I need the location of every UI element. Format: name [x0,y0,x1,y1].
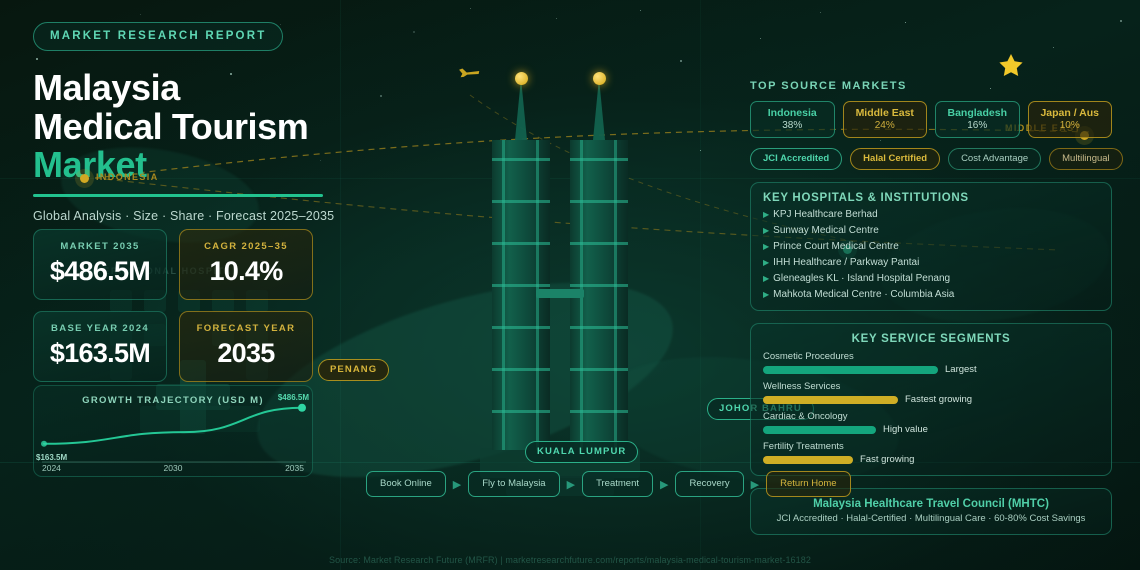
hospital-name: IHH Healthcare / Parkway Pantai [773,257,919,268]
crescent-moon-star-icon [994,18,1058,82]
journey-step-return-home[interactable]: Return Home [766,471,851,497]
stat-value: $163.5M [44,338,156,369]
map-dot-indonesia [80,174,89,183]
stat-label: FORECAST YEAR [190,323,302,334]
mhtc-title: Malaysia Healthcare Travel Council (MHTC… [763,498,1099,510]
hospital-name: Prince Court Medical Centre [773,241,899,252]
journey-step-treatment[interactable]: Treatment [582,471,653,497]
infographic-canvas: INTERNATIONAL HOSPITAL [0,0,1140,570]
chip-halal-certified[interactable]: Halal Certified [850,148,940,170]
stat-card-cagr: CAGR 2025–35 10.4% [179,229,313,300]
source-market-name: Japan / Aus [1031,107,1110,119]
star [680,60,682,62]
page-subtitle: Global Analysis · Size · Share · Forecas… [33,209,363,223]
map-region-label-indonesia: INDONESIA [96,172,159,182]
star [1120,20,1122,22]
title-underline [33,194,323,197]
stat-value: $486.5M [44,256,156,287]
bullet-triangle-icon: ▶ [763,210,769,219]
bullet-triangle-icon: ▶ [763,242,769,251]
segment-tag: High value [883,424,928,435]
star [760,38,761,39]
segment-bar [763,396,898,404]
tower-spire-right [593,78,605,140]
x-tick: 2035 [285,463,304,473]
source-market-share: 24% [846,120,925,131]
hospital-item: ▶KPJ Healthcare Berhad [763,209,1099,220]
report-badge: MARKET RESEARCH REPORT [33,22,283,51]
segment-bar [763,456,853,464]
source-market-name: Bangladesh [938,107,1017,119]
title-line-2: Medical Tourism [33,106,308,147]
segment-label: Cardiac & Oncology [763,411,1099,422]
segment-label: Fertility Treatments [763,441,1099,452]
mhtc-subtitle: JCI Accredited · Halal-Certified · Multi… [763,513,1099,524]
sky-bridge [536,289,584,298]
hospital-name: Mahkota Medical Centre · Columbia Asia [773,289,954,300]
spire-light-left [515,72,528,85]
star [470,8,471,9]
segment-row-fertility: Fertility Treatments Fast growing [763,441,1099,465]
star [140,14,141,15]
page-title: Malaysia Medical Tourism Market [33,69,363,185]
arrow-right-icon: ▶ [567,478,575,491]
stat-value: 10.4% [190,256,302,287]
source-market-japan-aus[interactable]: Japan / Aus 10% [1028,101,1113,138]
segment-bar [763,366,938,374]
bullet-triangle-icon: ▶ [763,226,769,235]
key-hospitals-title: KEY HOSPITALS & INSTITUTIONS [763,192,1099,204]
bullet-triangle-icon: ▶ [763,290,769,299]
bullet-triangle-icon: ▶ [763,258,769,267]
source-market-middle-east[interactable]: Middle East 24% [843,101,928,138]
segment-bar [763,426,876,434]
source-market-name: Indonesia [753,107,832,119]
chip-cost-advantage[interactable]: Cost Advantage [948,148,1041,170]
hospital-item: ▶Sunway Medical Centre [763,225,1099,236]
advantage-chips: JCI Accredited Halal Certified Cost Adva… [750,148,1112,170]
source-market-share: 10% [1031,120,1110,131]
star [380,95,382,97]
segment-tag: Largest [945,364,977,375]
segment-tag: Fastest growing [905,394,972,405]
star [556,18,557,19]
spire-light-right [593,72,606,85]
star [905,22,906,23]
segment-label: Wellness Services [763,381,1099,392]
stat-value: 2035 [190,338,302,369]
chart-end-label: $486.5M [278,393,309,402]
growth-trajectory-chart: GROWTH TRAJECTORY (USD M) $163.5M $486.5… [33,385,313,477]
hospital-name: KPJ Healthcare Berhad [773,209,878,220]
star [640,10,641,11]
hospital-name: Gleneagles KL · Island Hospital Penang [773,273,950,284]
segment-row-cosmetic: Cosmetic Procedures Largest [763,351,1099,375]
hospital-item: ▶IHH Healthcare / Parkway Pantai [763,257,1099,268]
segment-row-wellness: Wellness Services Fastest growing [763,381,1099,405]
service-segments-title: KEY SERVICE SEGMENTS [763,333,1099,345]
journey-step-book-online[interactable]: Book Online [366,471,446,497]
stat-card-base-year: BASE YEAR 2024 $163.5M [33,311,167,382]
stat-card-forecast-year: FORECAST YEAR 2035 [179,311,313,382]
segment-row-cardiac: Cardiac & Oncology High value [763,411,1099,435]
chart-x-tick-labels: 2024 2030 2035 [42,463,304,473]
x-tick: 2030 [164,463,183,473]
hospital-item: ▶Gleneagles KL · Island Hospital Penang [763,273,1099,284]
source-footer: Source: Market Research Future (MRFR) | … [0,555,1140,565]
source-market-indonesia[interactable]: Indonesia 38% [750,101,835,138]
key-service-segments-panel: KEY SERVICE SEGMENTS Cosmetic Procedures… [750,323,1112,476]
key-stats-grid: MARKET 2035 $486.5M CAGR 2025–35 10.4% B… [33,229,313,393]
title-line-1: Malaysia [33,67,180,108]
airplane-icon [456,64,482,88]
stat-card-market-2035: MARKET 2035 $486.5M [33,229,167,300]
stat-label: BASE YEAR 2024 [44,323,156,334]
stat-label: MARKET 2035 [44,241,156,252]
hospital-item: ▶Prince Court Medical Centre [763,241,1099,252]
source-markets-title: TOP SOURCE MARKETS [750,80,1112,92]
arrow-right-icon: ▶ [751,478,759,491]
right-panel: TOP SOURCE MARKETS Indonesia 38% Middle … [750,80,1112,535]
map-pill-kuala-lumpur[interactable]: KUALA LUMPUR [525,441,638,463]
arrow-right-icon: ▶ [660,478,668,491]
source-market-name: Middle East [846,107,925,119]
map-pill-penang[interactable]: PENANG [318,359,389,381]
segment-label: Cosmetic Procedures [763,351,1099,362]
source-market-share: 16% [938,120,1017,131]
journey-step-recovery[interactable]: Recovery [675,471,743,497]
key-hospitals-panel: KEY HOSPITALS & INSTITUTIONS ▶KPJ Health… [750,182,1112,311]
hospital-item: ▶Mahkota Medical Centre · Columbia Asia [763,289,1099,300]
chip-multilingual[interactable]: Multilingual [1049,148,1123,170]
stat-label: CAGR 2025–35 [190,241,302,252]
bullet-triangle-icon: ▶ [763,274,769,283]
chip-jci-accredited[interactable]: JCI Accredited [750,148,842,170]
journey-step-fly-to-malaysia[interactable]: Fly to Malaysia [468,471,559,497]
star [820,12,821,13]
star [413,31,415,33]
hospital-name: Sunway Medical Centre [773,225,879,236]
source-markets-grid: Indonesia 38% Middle East 24% Bangladesh… [750,101,1112,138]
header-block: MARKET RESEARCH REPORT Malaysia Medical … [33,22,363,223]
tower-spire-left [515,78,527,140]
x-tick: 2024 [42,463,61,473]
patient-journey-flow: Book Online ▶ Fly to Malaysia ▶ Treatmen… [366,471,851,497]
segment-tag: Fast growing [860,454,914,465]
chart-start-label: $163.5M [36,453,67,462]
source-market-share: 38% [753,120,832,131]
source-market-bangladesh[interactable]: Bangladesh 16% [935,101,1020,138]
arrow-right-icon: ▶ [453,478,461,491]
